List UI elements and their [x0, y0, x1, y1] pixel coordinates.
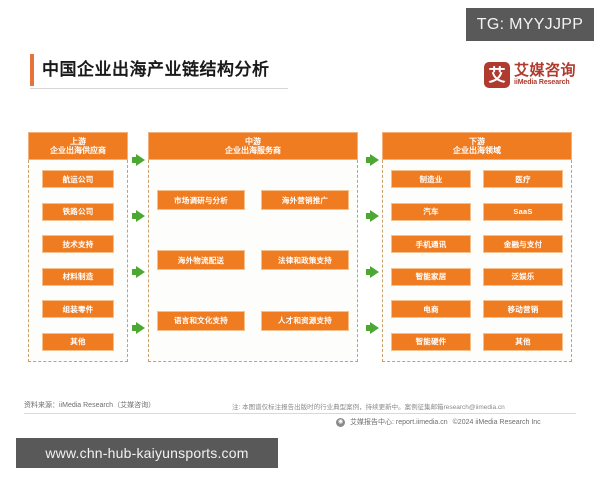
industry-chain-diagram: 上游 企业出海供应商 航运公司 铁路公司 技术支持 材料制造 组装零件 其他 中… [0, 132, 600, 362]
logo-text: 艾媒咨询 iiMedia Research [514, 63, 576, 86]
chip-item[interactable]: 组装零件 [42, 300, 114, 318]
footer-bottom: ◉ 艾媒报告中心: report.iimedia.cn ©2024 iiMedi… [336, 417, 541, 427]
url-watermark-banner: www.chn-hub-kaiyunsports.com [16, 438, 278, 468]
column-body-midstream: 市场调研与分析 海外营销推广 海外物流配送 法律和政策支持 语言和文化支持 人才… [148, 160, 358, 362]
chip-item[interactable]: 海外营销推广 [261, 190, 349, 210]
logo-name-en: iiMedia Research [514, 79, 576, 86]
chip-item[interactable]: 电商 [391, 300, 471, 318]
column-header-midstream: 中游 企业出海服务商 [148, 132, 358, 160]
iimedia-logo: 艾 艾媒咨询 iiMedia Research [484, 62, 576, 88]
column-header-title: 下游 [469, 137, 485, 146]
chip-item[interactable]: 移动营销 [483, 300, 563, 318]
title-accent-bar [30, 54, 34, 86]
chip-item[interactable]: 其他 [483, 333, 563, 351]
globe-icon: ◉ [336, 418, 345, 427]
chip-item[interactable]: 材料制造 [42, 268, 114, 286]
chip-item[interactable]: 市场调研与分析 [157, 190, 245, 210]
column-header-title: 上游 [70, 137, 86, 146]
column-header-subtitle: 企业出海领域 [453, 146, 501, 155]
footer-note: 注: 本图谱仅标注报告出版时的行业典型案例，持续更新中。案例征集邮箱resear… [232, 401, 505, 411]
column-body-upstream: 航运公司 铁路公司 技术支持 材料制造 组装零件 其他 [28, 160, 128, 362]
chip-item[interactable]: 其他 [42, 333, 114, 351]
chip-row: 汽车 SaaS [391, 203, 563, 221]
chip-item[interactable]: 泛娱乐 [483, 268, 563, 286]
column-header-downstream: 下游 企业出海领域 [382, 132, 572, 160]
column-header-subtitle: 企业出海供应商 [50, 146, 106, 155]
chip-row: 手机通讯 金融与支付 [391, 235, 563, 253]
chip-item[interactable]: 航运公司 [42, 170, 114, 188]
chip-row: 智能家居 泛娱乐 [391, 268, 563, 286]
chip-item[interactable]: SaaS [483, 203, 563, 221]
logo-name-cn: 艾媒咨询 [514, 63, 576, 79]
footer-divider [24, 413, 576, 414]
tg-watermark-badge: TG: MYYJJPP [466, 8, 594, 41]
chip-item[interactable]: 医疗 [483, 170, 563, 188]
chip-row: 智能硬件 其他 [391, 333, 563, 351]
chip-item[interactable]: 铁路公司 [42, 203, 114, 221]
footer-source: 资料来源：iiMedia Research（艾媒咨询） [24, 400, 155, 410]
chip-item[interactable]: 智能家居 [391, 268, 471, 286]
flow-arrow-icon [136, 154, 145, 166]
chip-item[interactable]: 智能硬件 [391, 333, 471, 351]
page-title: 中国企业出海产业链结构分析 [42, 55, 270, 80]
chip-item[interactable]: 金融与支付 [483, 235, 563, 253]
chip-item[interactable]: 法律和政策支持 [261, 250, 349, 270]
column-downstream: 下游 企业出海领域 制造业 医疗 汽车 SaaS 手机通讯 金融与支付 智能家居… [382, 132, 572, 362]
column-midstream: 中游 企业出海服务商 市场调研与分析 海外营销推广 海外物流配送 法律和政策支持… [148, 132, 358, 362]
column-header-subtitle: 企业出海服务商 [225, 146, 281, 155]
column-upstream: 上游 企业出海供应商 航运公司 铁路公司 技术支持 材料制造 组装零件 其他 [28, 132, 128, 362]
flow-arrow-icon [136, 322, 145, 334]
flow-arrow-icon [370, 154, 379, 166]
flow-arrow-icon [136, 266, 145, 278]
chip-item[interactable]: 技术支持 [42, 235, 114, 253]
chip-row: 海外物流配送 法律和政策支持 [157, 250, 349, 270]
footer-copyright: ©2024 iiMedia Research Inc [453, 419, 541, 426]
flow-arrow-icon [136, 210, 145, 222]
chip-item[interactable]: 语言和文化支持 [157, 311, 245, 331]
column-body-downstream: 制造业 医疗 汽车 SaaS 手机通讯 金融与支付 智能家居 泛娱乐 电商 移动… [382, 160, 572, 362]
chip-item[interactable]: 汽车 [391, 203, 471, 221]
column-header-upstream: 上游 企业出海供应商 [28, 132, 128, 160]
chip-row: 语言和文化支持 人才和资源支持 [157, 311, 349, 331]
chip-row: 市场调研与分析 海外营销推广 [157, 190, 349, 210]
chip-item[interactable]: 海外物流配送 [157, 250, 245, 270]
chip-item[interactable]: 手机通讯 [391, 235, 471, 253]
flow-arrow-icon [370, 210, 379, 222]
column-header-title: 中游 [245, 137, 261, 146]
chip-item[interactable]: 制造业 [391, 170, 471, 188]
chip-row: 电商 移动营销 [391, 300, 563, 318]
logo-mark-icon: 艾 [484, 62, 510, 88]
footer-report-center: 艾媒报告中心: report.iimedia.cn [350, 417, 448, 427]
title-divider [30, 88, 288, 89]
chip-row: 制造业 医疗 [391, 170, 563, 188]
chip-item[interactable]: 人才和资源支持 [261, 311, 349, 331]
flow-arrow-icon [370, 322, 379, 334]
flow-arrow-icon [370, 266, 379, 278]
